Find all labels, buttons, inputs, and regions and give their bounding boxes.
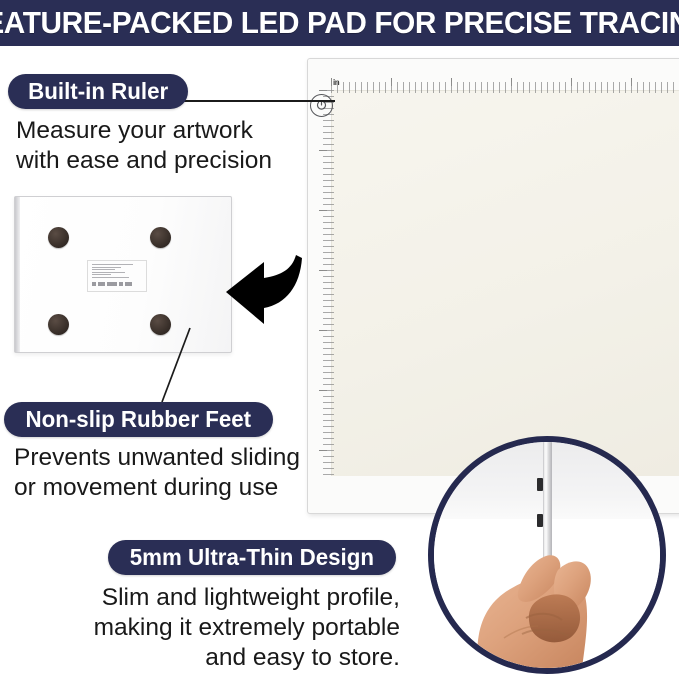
leader-line-feet	[162, 328, 190, 402]
thinness-inset-photo	[428, 436, 666, 674]
callout-label-ultra-thin-design: 5mm Ultra-Thin Design	[130, 544, 374, 571]
callout-pill-ultra-thin-design: 5mm Ultra-Thin Design	[108, 540, 396, 575]
callout-body-non-slip-rubber-feet: Prevents unwanted sliding or movement du…	[14, 443, 306, 503]
callout-label-built-in-ruler: Built-in Ruler	[28, 78, 168, 105]
infographic-canvas: in FEATURE-PACKED LED PAD FOR PRECISE TR…	[0, 0, 679, 674]
callout-pill-non-slip-rubber-feet: Non-slip Rubber Feet	[4, 402, 273, 437]
callout-pill-built-in-ruler: Built-in Ruler	[8, 74, 188, 109]
hand-illustration	[434, 442, 660, 668]
callout-body-built-in-ruler: Measure your artwork with ease and preci…	[16, 116, 302, 176]
callout-body-ultra-thin-design: Slim and lightweight profile, making it …	[66, 583, 400, 673]
callout-label-non-slip-rubber-feet: Non-slip Rubber Feet	[25, 406, 251, 433]
